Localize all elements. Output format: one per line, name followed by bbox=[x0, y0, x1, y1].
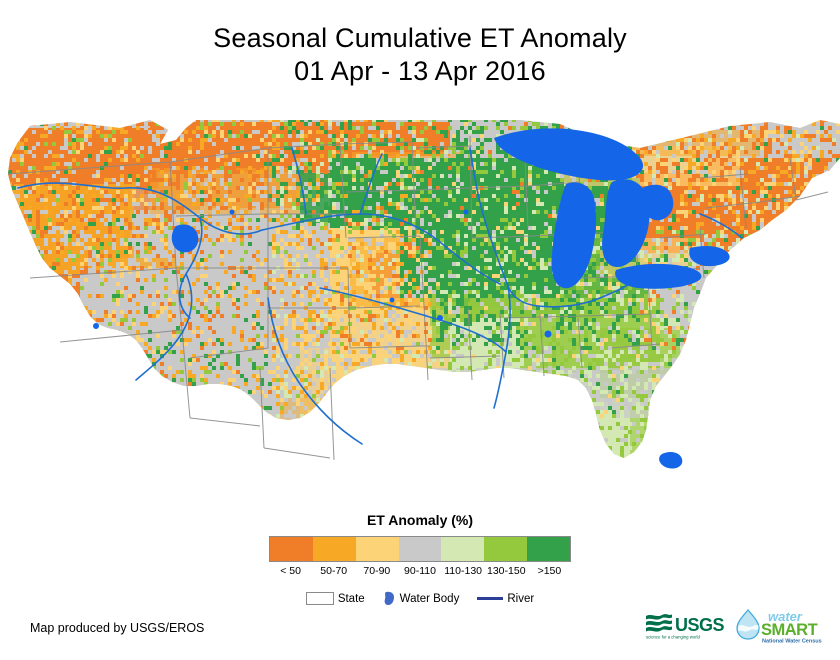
legend-key-water-label: Water Body bbox=[400, 593, 460, 605]
title-line-1: Seasonal Cumulative ET Anomaly bbox=[0, 22, 840, 55]
map-credit: Map produced by USGS/EROS bbox=[30, 621, 204, 635]
river-line-icon bbox=[477, 597, 503, 600]
state-outline-icon bbox=[306, 592, 334, 605]
legend-swatch-label-6: >150 bbox=[528, 565, 571, 577]
legend-swatch-0 bbox=[270, 537, 313, 561]
map-legend: ET Anomaly (%) < 5050-7070-9090-110110-1… bbox=[0, 512, 840, 606]
usgs-tagline: science for a changing world bbox=[646, 635, 701, 640]
legend-swatch-5 bbox=[484, 537, 527, 561]
water-body-icon bbox=[383, 591, 396, 606]
legend-key-water-body: Water Body bbox=[383, 591, 460, 606]
us-et-anomaly-raster bbox=[0, 118, 840, 482]
legend-title: ET Anomaly (%) bbox=[0, 512, 840, 528]
agency-logos: USGS science for a changing world water … bbox=[645, 604, 840, 650]
legend-key-state: State bbox=[306, 592, 365, 605]
title-line-2: 01 Apr - 13 Apr 2016 bbox=[0, 55, 840, 88]
legend-color-ramp bbox=[269, 536, 571, 562]
map-canvas bbox=[0, 118, 840, 482]
legend-feature-keys: State Water Body River bbox=[270, 591, 570, 606]
legend-swatch-6 bbox=[527, 537, 570, 561]
legend-key-river-label: River bbox=[507, 593, 534, 605]
usgs-logo: USGS science for a changing world bbox=[645, 609, 733, 642]
et-anomaly-map-page: Seasonal Cumulative ET Anomaly 01 Apr - … bbox=[0, 0, 840, 660]
legend-swatch-label-0: < 50 bbox=[269, 565, 312, 577]
legend-swatch-3 bbox=[399, 537, 442, 561]
watersmart-logo: water SMART National Water Census bbox=[731, 606, 840, 646]
legend-key-state-label: State bbox=[338, 593, 365, 605]
legend-swatch-1 bbox=[313, 537, 356, 561]
page-title: Seasonal Cumulative ET Anomaly 01 Apr - … bbox=[0, 22, 840, 88]
legend-swatch-label-4: 110-130 bbox=[442, 565, 485, 577]
legend-swatch-label-2: 70-90 bbox=[355, 565, 398, 577]
legend-class-labels: < 5050-7070-9090-110110-130130-150>150 bbox=[269, 565, 571, 577]
legend-swatch-label-3: 90-110 bbox=[398, 565, 441, 577]
legend-swatch-4 bbox=[441, 537, 484, 561]
legend-swatch-label-5: 130-150 bbox=[485, 565, 528, 577]
legend-swatch-2 bbox=[356, 537, 399, 561]
legend-key-river: River bbox=[477, 593, 534, 605]
legend-swatch-label-1: 50-70 bbox=[312, 565, 355, 577]
